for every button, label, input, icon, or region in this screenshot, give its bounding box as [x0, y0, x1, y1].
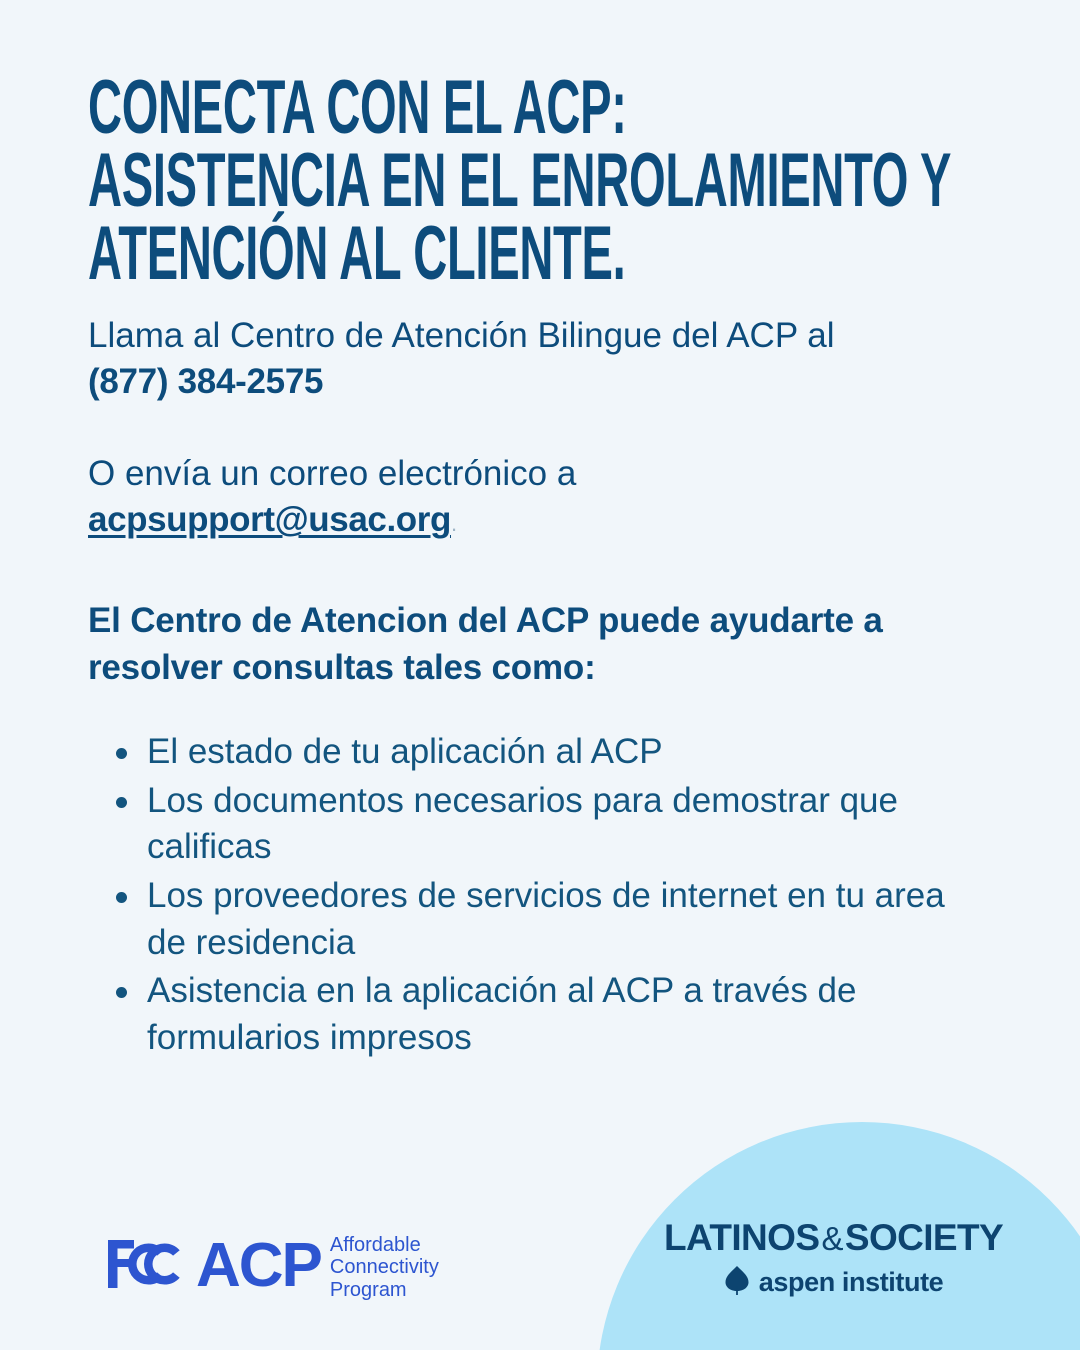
aspen-institute-text: aspen institute — [759, 1269, 944, 1296]
poster-content: CONECTA CON EL ACP: ASISTENCIA EN EL ENR… — [0, 0, 1080, 1061]
latinos-society-wordmark: LATINOS&SOCIETY — [664, 1219, 1003, 1256]
footer: ACP Affordable Connectivity Program LATI… — [0, 1190, 1080, 1350]
acp-tagline: Affordable Connectivity Program — [330, 1231, 439, 1302]
fcc-logo-icon — [104, 1236, 182, 1297]
acp-tagline-line-2: Connectivity — [330, 1256, 439, 1279]
email-trailing-dot: . — [451, 511, 457, 536]
acp-tagline-line-3: Program — [330, 1279, 439, 1302]
acp-wordmark: ACP — [196, 1235, 321, 1297]
aspen-leaf-icon — [724, 1265, 750, 1300]
email-line: acpsupport@usac.org. — [88, 497, 992, 543]
list-item: Los proveedores de servicios de internet… — [88, 873, 968, 966]
email-link[interactable]: acpsupport@usac.org — [88, 500, 451, 539]
acp-tagline-line-1: Affordable — [330, 1234, 439, 1257]
headline-line-3: ATENCIÓN AL CLIENTE. — [88, 218, 990, 291]
ampersand: & — [819, 1220, 844, 1257]
latinos-text: LATINOS — [664, 1217, 819, 1258]
help-topics-list: El estado de tu aplicación al ACP Los do… — [88, 729, 968, 1061]
headline-line-1: CONECTA CON EL ACP: — [88, 72, 990, 145]
list-item: El estado de tu aplicación al ACP — [88, 729, 968, 776]
phone-intro-text: Llama al Centro de Atención Bilingue del… — [88, 313, 992, 359]
page-title: CONECTA CON EL ACP: ASISTENCIA EN EL ENR… — [88, 0, 990, 291]
phone-number[interactable]: (877) 384-2575 — [88, 359, 992, 405]
society-text: SOCIETY — [845, 1217, 1003, 1258]
poster-canvas: CONECTA CON EL ACP: ASISTENCIA EN EL ENR… — [0, 0, 1080, 1350]
aspen-latinos-logo: LATINOS&SOCIETY aspen institute — [664, 1219, 1003, 1300]
aspen-institute-row: aspen institute — [664, 1265, 1003, 1300]
list-item: Los documentos necesarios para demostrar… — [88, 778, 968, 871]
acp-logo: ACP Affordable Connectivity Program — [196, 1231, 439, 1302]
fcc-acp-lockup: ACP Affordable Connectivity Program — [104, 1231, 439, 1302]
contact-spacer — [88, 405, 992, 451]
list-item: Asistencia en la aplicación al ACP a tra… — [88, 968, 968, 1061]
contact-block: Llama al Centro de Atención Bilingue del… — [88, 313, 992, 544]
headline-line-2: ASISTENCIA EN EL ENROLAMIENTO Y — [88, 145, 990, 218]
email-intro-text: O envía un correo electrónico a — [88, 451, 992, 497]
lead-in-text: El Centro de Atencion del ACP puede ayud… — [88, 598, 988, 692]
